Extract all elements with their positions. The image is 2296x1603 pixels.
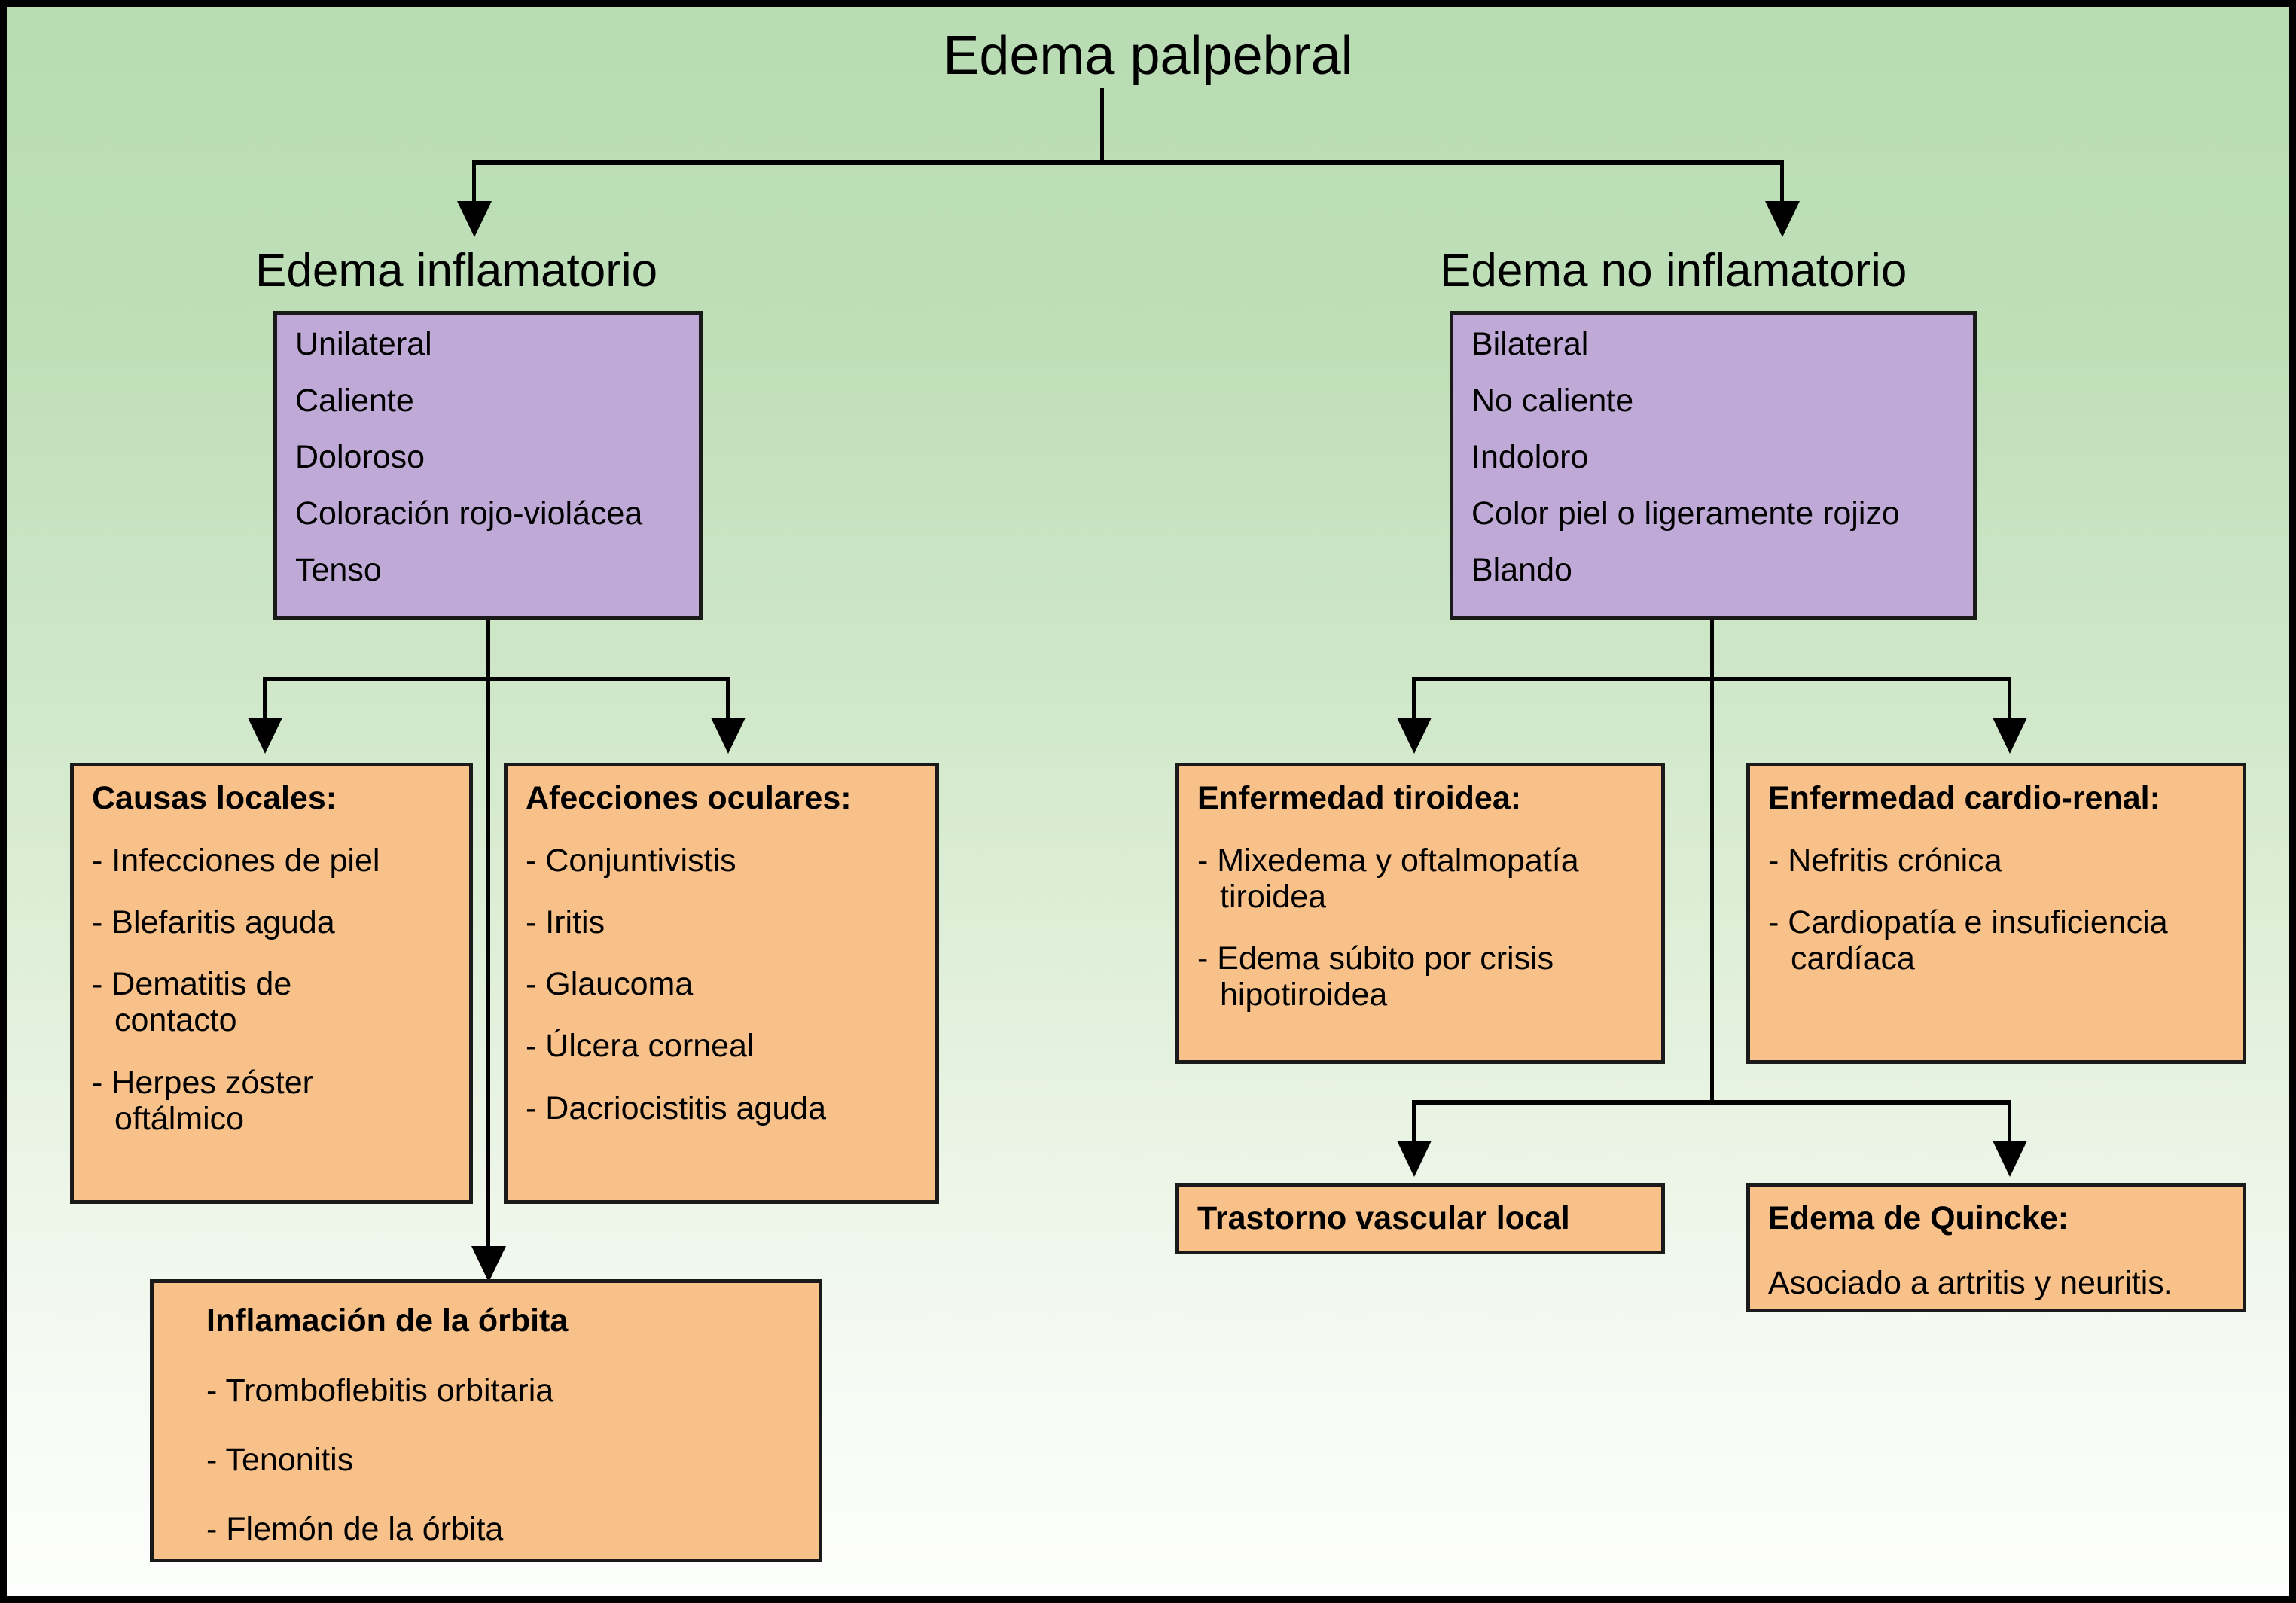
list-item: - Nefritis crónica (1768, 843, 2226, 879)
property-line: Coloración rojo-violácea (295, 498, 682, 530)
property-line: Doloroso (295, 441, 682, 474)
arrowhead-enfermedad-tiroidea (1397, 718, 1432, 754)
list-item: - Dematitis decontacto (92, 966, 453, 1038)
connector-noinflam-split-left (1412, 677, 1416, 724)
list-item: - Blefaritis aguda (92, 904, 453, 940)
box-header: Causas locales: (92, 780, 453, 817)
list-item-text: - Edema súbito por crisis (1197, 940, 1554, 977)
property-line: Unilateral (295, 328, 682, 361)
connector-root-left-drop (472, 160, 476, 207)
list-item-text: - Flemón de la órbita (206, 1511, 503, 1547)
list-item: - Úlcera corneal (526, 1028, 919, 1064)
list-item: - Iritis (526, 904, 919, 940)
list-item-continuation: tiroidea (1197, 879, 1645, 915)
list-item: - Cardiopatía e insuficienciacardíaca (1768, 904, 2226, 977)
list-item-text: - Infecciones de piel (92, 843, 380, 879)
list-item: - Tenonitis (206, 1442, 802, 1478)
box-edema-inflamatorio-properties: Unilateral Caliente Doloroso Coloración … (273, 311, 703, 620)
arrowhead-afecciones-oculares (711, 718, 746, 754)
list-item-text: - Dacriocistitis aguda (526, 1090, 826, 1126)
arrowhead-root-right (1765, 201, 1800, 237)
list-item-text: - Herpes zóster (92, 1065, 313, 1101)
flowchart-canvas: Edema palpebral Edema inflamatorio Edema… (0, 0, 2296, 1603)
list-item: - Flemón de la órbita (206, 1511, 802, 1547)
list-item: - Herpes zósteroftálmico (92, 1065, 453, 1137)
list-item: - Conjuntivistis (526, 843, 919, 879)
connector-root-right-drop (1780, 160, 1784, 207)
box-header: Inflamación de la órbita (206, 1303, 802, 1339)
arrowhead-trastorno-vascular (1397, 1141, 1432, 1177)
list-item: - Mixedema y oftalmopatíatiroidea (1197, 843, 1645, 915)
box-header: Enfermedad cardio-renal: (1768, 780, 2226, 817)
list-item-text: - Glaucoma (526, 966, 693, 1002)
arrowhead-causas-locales (248, 718, 282, 754)
list-item-continuation: contacto (92, 1002, 453, 1038)
box-header: Edema de Quincke: (1768, 1200, 2226, 1237)
list-item: - Infecciones de piel (92, 843, 453, 879)
list-item: - Dacriocistitis aguda (526, 1090, 919, 1126)
list-item-text: - Tenonitis (206, 1442, 353, 1478)
connector-noinflam-split2-right (2008, 1100, 2011, 1147)
connector-noinflam-split-right (2008, 677, 2011, 724)
box-afecciones-oculares: Afecciones oculares: - Conjuntivistis - … (504, 763, 939, 1204)
list-item-text: - Cardiopatía e insuficiencia (1768, 904, 2168, 940)
property-line: Color piel o ligeramente rojizo (1471, 498, 1956, 530)
arrowhead-orbita (471, 1246, 506, 1282)
list-item-text: - Tromboflebitis orbitaria (206, 1373, 553, 1409)
branch-label-inflamatorio: Edema inflamatorio (255, 246, 657, 295)
property-line: Tenso (295, 554, 682, 587)
connector-inflam-split-right (726, 677, 730, 724)
list-item: - Glaucoma (526, 966, 919, 1002)
connector-root-bar (472, 160, 1784, 165)
list-item-continuation: cardíaca (1768, 940, 2226, 977)
property-line: No caliente (1471, 385, 1956, 417)
list-item-text: - Mixedema y oftalmopatía (1197, 843, 1579, 879)
box-header: Afecciones oculares: (526, 780, 919, 817)
list-item-continuation: hipotiroidea (1197, 977, 1645, 1013)
arrowhead-root-left (457, 201, 492, 237)
connector-root-stem (1100, 88, 1104, 162)
list-item-text: - Nefritis crónica (1768, 843, 2002, 879)
connector-noinflam-split2-left (1412, 1100, 1416, 1147)
box-edema-no-inflamatorio-properties: Bilateral No caliente Indoloro Color pie… (1450, 311, 1977, 620)
list-item: - Tromboflebitis orbitaria (206, 1373, 802, 1409)
box-causas-locales: Causas locales: - Infecciones de piel - … (70, 763, 473, 1204)
property-line: Caliente (295, 385, 682, 417)
box-enfermedad-tiroidea: Enfermedad tiroidea: - Mixedema y oftalm… (1175, 763, 1665, 1064)
connector-noinflam-spine (1710, 620, 1714, 1102)
list-item-text: - Blefaritis aguda (92, 904, 335, 940)
connector-inflam-split-bar (263, 677, 730, 681)
arrowhead-enfermedad-cardio-renal (1993, 718, 2027, 754)
connector-inflam-split-left (263, 677, 267, 724)
list-item-text: - Dematitis de (92, 966, 291, 1002)
property-line: Blando (1471, 554, 1956, 587)
box-body-text: Asociado a artritis y neuritis. (1768, 1267, 2226, 1300)
box-header: Enfermedad tiroidea: (1197, 780, 1645, 817)
box-edema-de-quincke: Edema de Quincke: Asociado a artritis y … (1746, 1183, 2246, 1312)
box-header: Trastorno vascular local (1197, 1200, 1570, 1237)
box-enfermedad-cardio-renal: Enfermedad cardio-renal: - Nefritis crón… (1746, 763, 2246, 1064)
list-item-text: - Iritis (526, 904, 605, 940)
connector-noinflam-split2-bar (1412, 1100, 2011, 1105)
property-line: Indoloro (1471, 441, 1956, 474)
box-trastorno-vascular-local: Trastorno vascular local (1175, 1183, 1665, 1254)
list-item-text: - Conjuntivistis (526, 843, 736, 879)
box-inflamacion-de-la-orbita: Inflamación de la órbita - Tromboflebiti… (150, 1279, 822, 1562)
branch-label-no-inflamatorio: Edema no inflamatorio (1440, 246, 1907, 295)
arrowhead-edema-quincke (1993, 1141, 2027, 1177)
list-item-continuation: oftálmico (92, 1101, 453, 1137)
connector-noinflam-split-bar (1412, 677, 2011, 681)
list-item: - Edema súbito por crisishipotiroidea (1197, 940, 1645, 1013)
property-line: Bilateral (1471, 328, 1956, 361)
list-item-text: - Úlcera corneal (526, 1028, 755, 1064)
connector-inflam-to-orbita (486, 620, 490, 1254)
root-title: Edema palpebral (7, 28, 2289, 85)
